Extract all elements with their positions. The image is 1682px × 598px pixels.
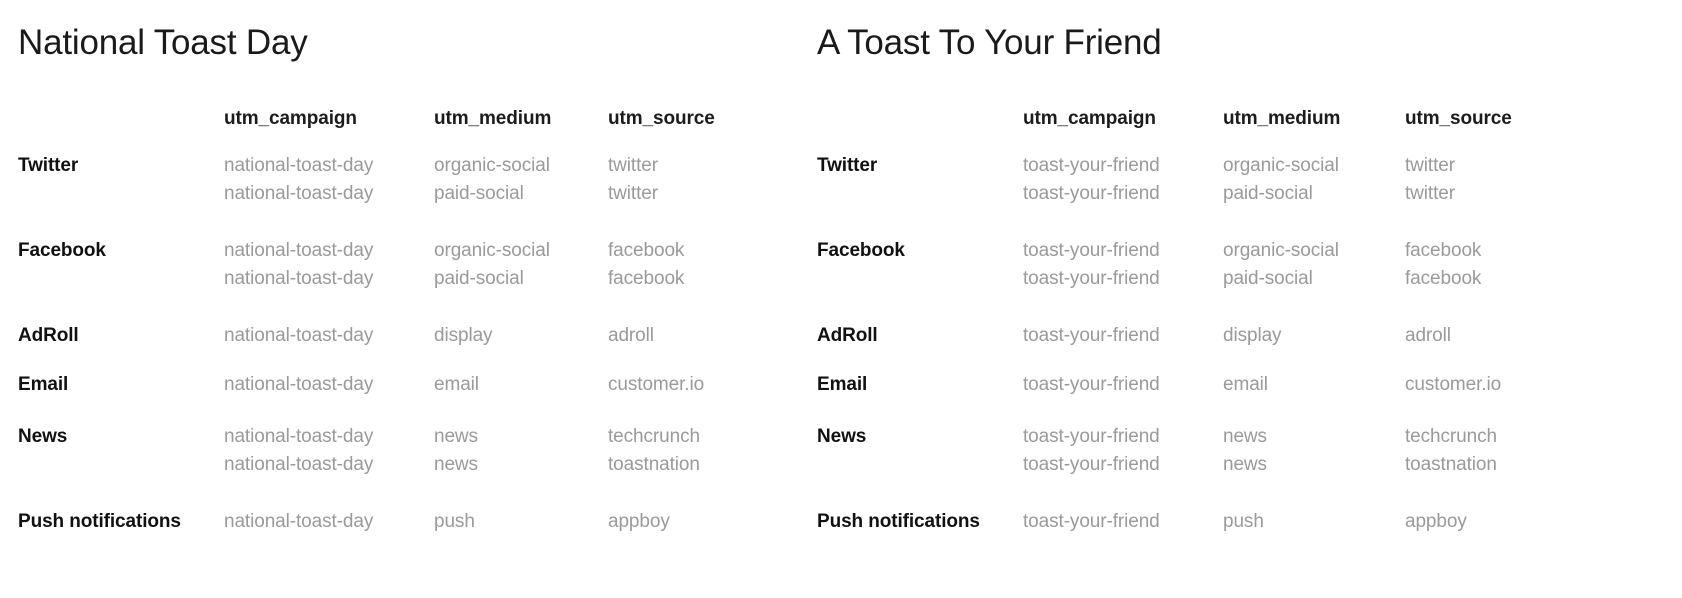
cell-utm-source: appboy (608, 511, 818, 533)
cell-utm-medium: organic-social (434, 240, 608, 262)
cell-utm-medium: push (434, 511, 608, 533)
cell-utm-campaign: national-toast-day (224, 240, 434, 262)
table-row: AdRolltoast-your-frienddisplayadroll (817, 325, 1682, 353)
column-header-utm-medium: utm_medium (434, 108, 608, 130)
cell-utm-source: facebook (608, 268, 818, 290)
cell-utm-medium: organic-social (1223, 240, 1405, 262)
row-label-channel: News (817, 426, 1023, 448)
cell-utm-source: customer.io (1405, 374, 1682, 396)
campaign-panel-national-toast-day: National Toast Day utm_campaignutm_mediu… (0, 0, 800, 598)
cell-utm-medium: display (1223, 325, 1405, 347)
table-row: Emailtoast-your-friendemailcustomer.io (817, 374, 1682, 402)
row-label-channel: News (18, 426, 224, 448)
cell-utm-medium: organic-social (434, 155, 608, 177)
cell-utm-medium: news (1223, 454, 1405, 476)
cell-utm-medium: news (434, 426, 608, 448)
table-row: AdRollnational-toast-daydisplayadroll (18, 325, 818, 353)
cell-utm-campaign: national-toast-day (224, 325, 434, 347)
cell-utm-campaign: toast-your-friend (1023, 240, 1223, 262)
cell-utm-source: twitter (1405, 183, 1682, 205)
cell-utm-medium: push (1223, 511, 1405, 533)
utm-table: utm_campaignutm_mediumutm_sourceTwittern… (18, 108, 818, 539)
row-label-channel: AdRoll (18, 325, 224, 347)
cell-utm-campaign: national-toast-day (224, 426, 434, 448)
column-header-utm-medium: utm_medium (1223, 108, 1405, 130)
cell-utm-medium: display (434, 325, 608, 347)
row-spacer (18, 402, 818, 426)
cell-utm-source: adroll (608, 325, 818, 347)
column-header-utm-source: utm_source (608, 108, 818, 130)
table-row: Push notificationstoast-your-friendpusha… (817, 511, 1682, 539)
table-row: national-toast-daypaid-socialtwitter (18, 183, 818, 211)
row-label-channel: Facebook (817, 240, 1023, 262)
column-header-utm-source: utm_source (1405, 108, 1682, 130)
cell-utm-campaign: toast-your-friend (1023, 325, 1223, 347)
table-row: national-toast-daypaid-socialfacebook (18, 268, 818, 296)
cell-utm-source: twitter (608, 183, 818, 205)
row-spacer (817, 353, 1682, 374)
cell-utm-medium: paid-social (434, 183, 608, 205)
page-title: A Toast To Your Friend (817, 22, 1162, 64)
table-row: Newsnational-toast-daynewstechcrunch (18, 426, 818, 454)
page-title: National Toast Day (18, 22, 308, 64)
row-label-channel: Push notifications (817, 511, 1023, 533)
table-header-row: utm_campaignutm_mediumutm_source (18, 108, 818, 136)
cell-utm-campaign: toast-your-friend (1023, 454, 1223, 476)
row-label-channel: Push notifications (18, 511, 224, 533)
row-label-channel: Twitter (18, 155, 224, 177)
row-label-channel: AdRoll (817, 325, 1023, 347)
cell-utm-campaign: national-toast-day (224, 511, 434, 533)
utm-table: utm_campaignutm_mediumutm_sourceTwittert… (817, 108, 1682, 539)
cell-utm-source: twitter (608, 155, 818, 177)
table-row: national-toast-daynewstoastnation (18, 454, 818, 482)
row-spacer (18, 353, 818, 374)
cell-utm-source: toastnation (1405, 454, 1682, 476)
table-row: Push notificationsnational-toast-daypush… (18, 511, 818, 539)
cell-utm-campaign: national-toast-day (224, 454, 434, 476)
cell-utm-source: appboy (1405, 511, 1682, 533)
table-header-row: utm_campaignutm_mediumutm_source (817, 108, 1682, 136)
cell-utm-medium: organic-social (1223, 155, 1405, 177)
row-label-channel: Email (18, 374, 224, 396)
table-row: Newstoast-your-friendnewstechcrunch (817, 426, 1682, 454)
cell-utm-campaign: national-toast-day (224, 374, 434, 396)
row-label-channel: Facebook (18, 240, 224, 262)
cell-utm-source: facebook (608, 240, 818, 262)
table-row: toast-your-friendpaid-socialtwitter (817, 183, 1682, 211)
cell-utm-medium: news (1223, 426, 1405, 448)
cell-utm-medium: news (434, 454, 608, 476)
cell-utm-campaign: national-toast-day (224, 155, 434, 177)
cell-utm-campaign: toast-your-friend (1023, 426, 1223, 448)
cell-utm-medium: paid-social (1223, 268, 1405, 290)
table-row: Twitternational-toast-dayorganic-socialt… (18, 155, 818, 183)
table-row: Facebooknational-toast-dayorganic-social… (18, 240, 818, 268)
cell-utm-campaign: toast-your-friend (1023, 511, 1223, 533)
table-row: Twittertoast-your-friendorganic-socialtw… (817, 155, 1682, 183)
cell-utm-campaign: toast-your-friend (1023, 374, 1223, 396)
cell-utm-campaign: national-toast-day (224, 183, 434, 205)
row-label-channel: Email (817, 374, 1023, 396)
table-row: Facebooktoast-your-friendorganic-socialf… (817, 240, 1682, 268)
cell-utm-source: techcrunch (1405, 426, 1682, 448)
column-header-utm-campaign: utm_campaign (224, 108, 434, 130)
cell-utm-medium: paid-social (1223, 183, 1405, 205)
cell-utm-source: facebook (1405, 240, 1682, 262)
cell-utm-source: customer.io (608, 374, 818, 396)
row-spacer (817, 402, 1682, 426)
cell-utm-medium: email (434, 374, 608, 396)
cell-utm-campaign: toast-your-friend (1023, 155, 1223, 177)
cell-utm-source: techcrunch (608, 426, 818, 448)
utm-tag-reference-page: National Toast Day utm_campaignutm_mediu… (0, 0, 1682, 598)
cell-utm-source: adroll (1405, 325, 1682, 347)
cell-utm-medium: paid-social (434, 268, 608, 290)
table-row: toast-your-friendpaid-socialfacebook (817, 268, 1682, 296)
cell-utm-campaign: toast-your-friend (1023, 183, 1223, 205)
row-label-channel: Twitter (817, 155, 1023, 177)
cell-utm-source: facebook (1405, 268, 1682, 290)
cell-utm-campaign: toast-your-friend (1023, 268, 1223, 290)
campaign-panel-a-toast-to-your-friend: A Toast To Your Friend utm_campaignutm_m… (799, 0, 1682, 598)
table-row: Emailnational-toast-dayemailcustomer.io (18, 374, 818, 402)
column-header-utm-campaign: utm_campaign (1023, 108, 1223, 130)
cell-utm-campaign: national-toast-day (224, 268, 434, 290)
cell-utm-source: toastnation (608, 454, 818, 476)
cell-utm-source: twitter (1405, 155, 1682, 177)
table-row: toast-your-friendnewstoastnation (817, 454, 1682, 482)
cell-utm-medium: email (1223, 374, 1405, 396)
